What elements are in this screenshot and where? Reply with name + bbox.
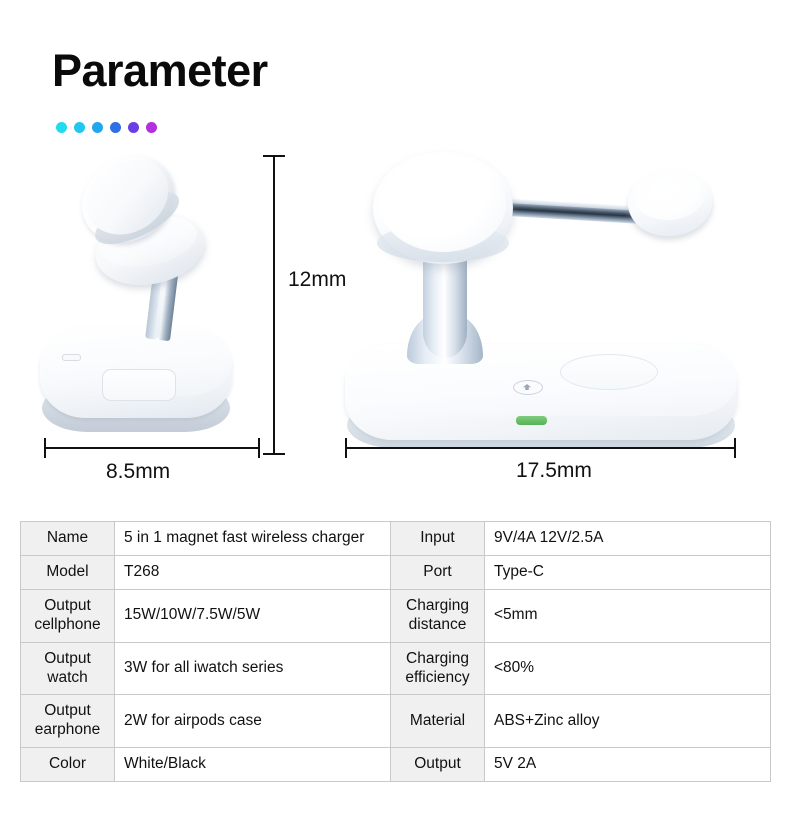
spec-value-cell: <5mm <box>485 589 771 642</box>
table-row: Name5 in 1 magnet fast wireless chargerI… <box>21 522 771 556</box>
accent-dot-1 <box>56 122 67 133</box>
left-base-charging-pad-outline <box>102 369 176 401</box>
spec-label-cell: Output <box>391 748 485 782</box>
table-row: ModelT268PortType-C <box>21 555 771 589</box>
spec-value-cell: White/Black <box>115 748 391 782</box>
watch-charger-puck <box>626 167 714 239</box>
accent-dot-row <box>56 122 157 133</box>
status-led <box>516 416 547 425</box>
dim-vertical-line <box>273 155 275 455</box>
left-indicator-slot <box>62 354 81 361</box>
right-base-top-surface <box>345 344 737 416</box>
spec-label-cell: Charging distance <box>391 589 485 642</box>
spec-label-cell: Input <box>391 522 485 556</box>
table-row: Output watch3W for all iwatch seriesChar… <box>21 642 771 695</box>
magsafe-charging-disc <box>373 152 513 264</box>
spec-value-cell: T268 <box>115 555 391 589</box>
spec-value-cell: ABS+Zinc alloy <box>485 695 771 748</box>
specification-table: Name5 in 1 magnet fast wireless chargerI… <box>20 521 771 782</box>
page-title: Parameter <box>52 48 268 93</box>
table-row: Output earphone2W for airpods caseMateri… <box>21 695 771 748</box>
spec-value-cell: 15W/10W/7.5W/5W <box>115 589 391 642</box>
product-image-left-stand <box>32 148 257 448</box>
spec-value-cell: 9V/4A 12V/2.5A <box>485 522 771 556</box>
dim-vertical-cap-bottom <box>263 453 285 455</box>
dim-right-line <box>345 447 736 449</box>
table-row: Output cellphone15W/10W/7.5W/5WCharging … <box>21 589 771 642</box>
spec-label-cell: Material <box>391 695 485 748</box>
spec-value-cell: 5 in 1 magnet fast wireless charger <box>115 522 391 556</box>
spec-value-cell: Type-C <box>485 555 771 589</box>
dim-left-cap-end <box>258 438 260 458</box>
spec-label-cell: Output cellphone <box>21 589 115 642</box>
spec-value-cell: 5V 2A <box>485 748 771 782</box>
accent-dot-3 <box>92 122 103 133</box>
accent-dot-2 <box>74 122 85 133</box>
spec-label-cell: Model <box>21 555 115 589</box>
accent-dot-5 <box>128 122 139 133</box>
product-image-right-stand <box>345 148 745 453</box>
dim-left-line <box>44 447 260 449</box>
spec-label-cell: Charging efficiency <box>391 642 485 695</box>
watch-charger-puck-face <box>633 172 706 223</box>
product-illustration-stage <box>0 148 790 493</box>
accent-dot-6 <box>146 122 157 133</box>
spec-label-cell: Output watch <box>21 642 115 695</box>
charging-bolt-icon <box>513 380 543 395</box>
spec-label-cell: Color <box>21 748 115 782</box>
accent-dot-4 <box>110 122 121 133</box>
spec-value-cell: <80% <box>485 642 771 695</box>
spec-label-cell: Name <box>21 522 115 556</box>
spec-value-cell: 2W for airpods case <box>115 695 391 748</box>
dimension-label-right-width: 17.5mm <box>516 459 592 483</box>
spec-label-cell: Output earphone <box>21 695 115 748</box>
dimension-label-left-width: 8.5mm <box>106 460 170 484</box>
right-neck-stem <box>423 248 467 358</box>
dim-right-cap-end <box>734 438 736 458</box>
table-row: ColorWhite/BlackOutput5V 2A <box>21 748 771 782</box>
dimension-label-height: 12mm <box>288 268 346 292</box>
right-base-charging-circle <box>560 354 658 390</box>
spec-label-cell: Port <box>391 555 485 589</box>
magsafe-disc-face <box>380 156 506 252</box>
spec-value-cell: 3W for all iwatch series <box>115 642 391 695</box>
